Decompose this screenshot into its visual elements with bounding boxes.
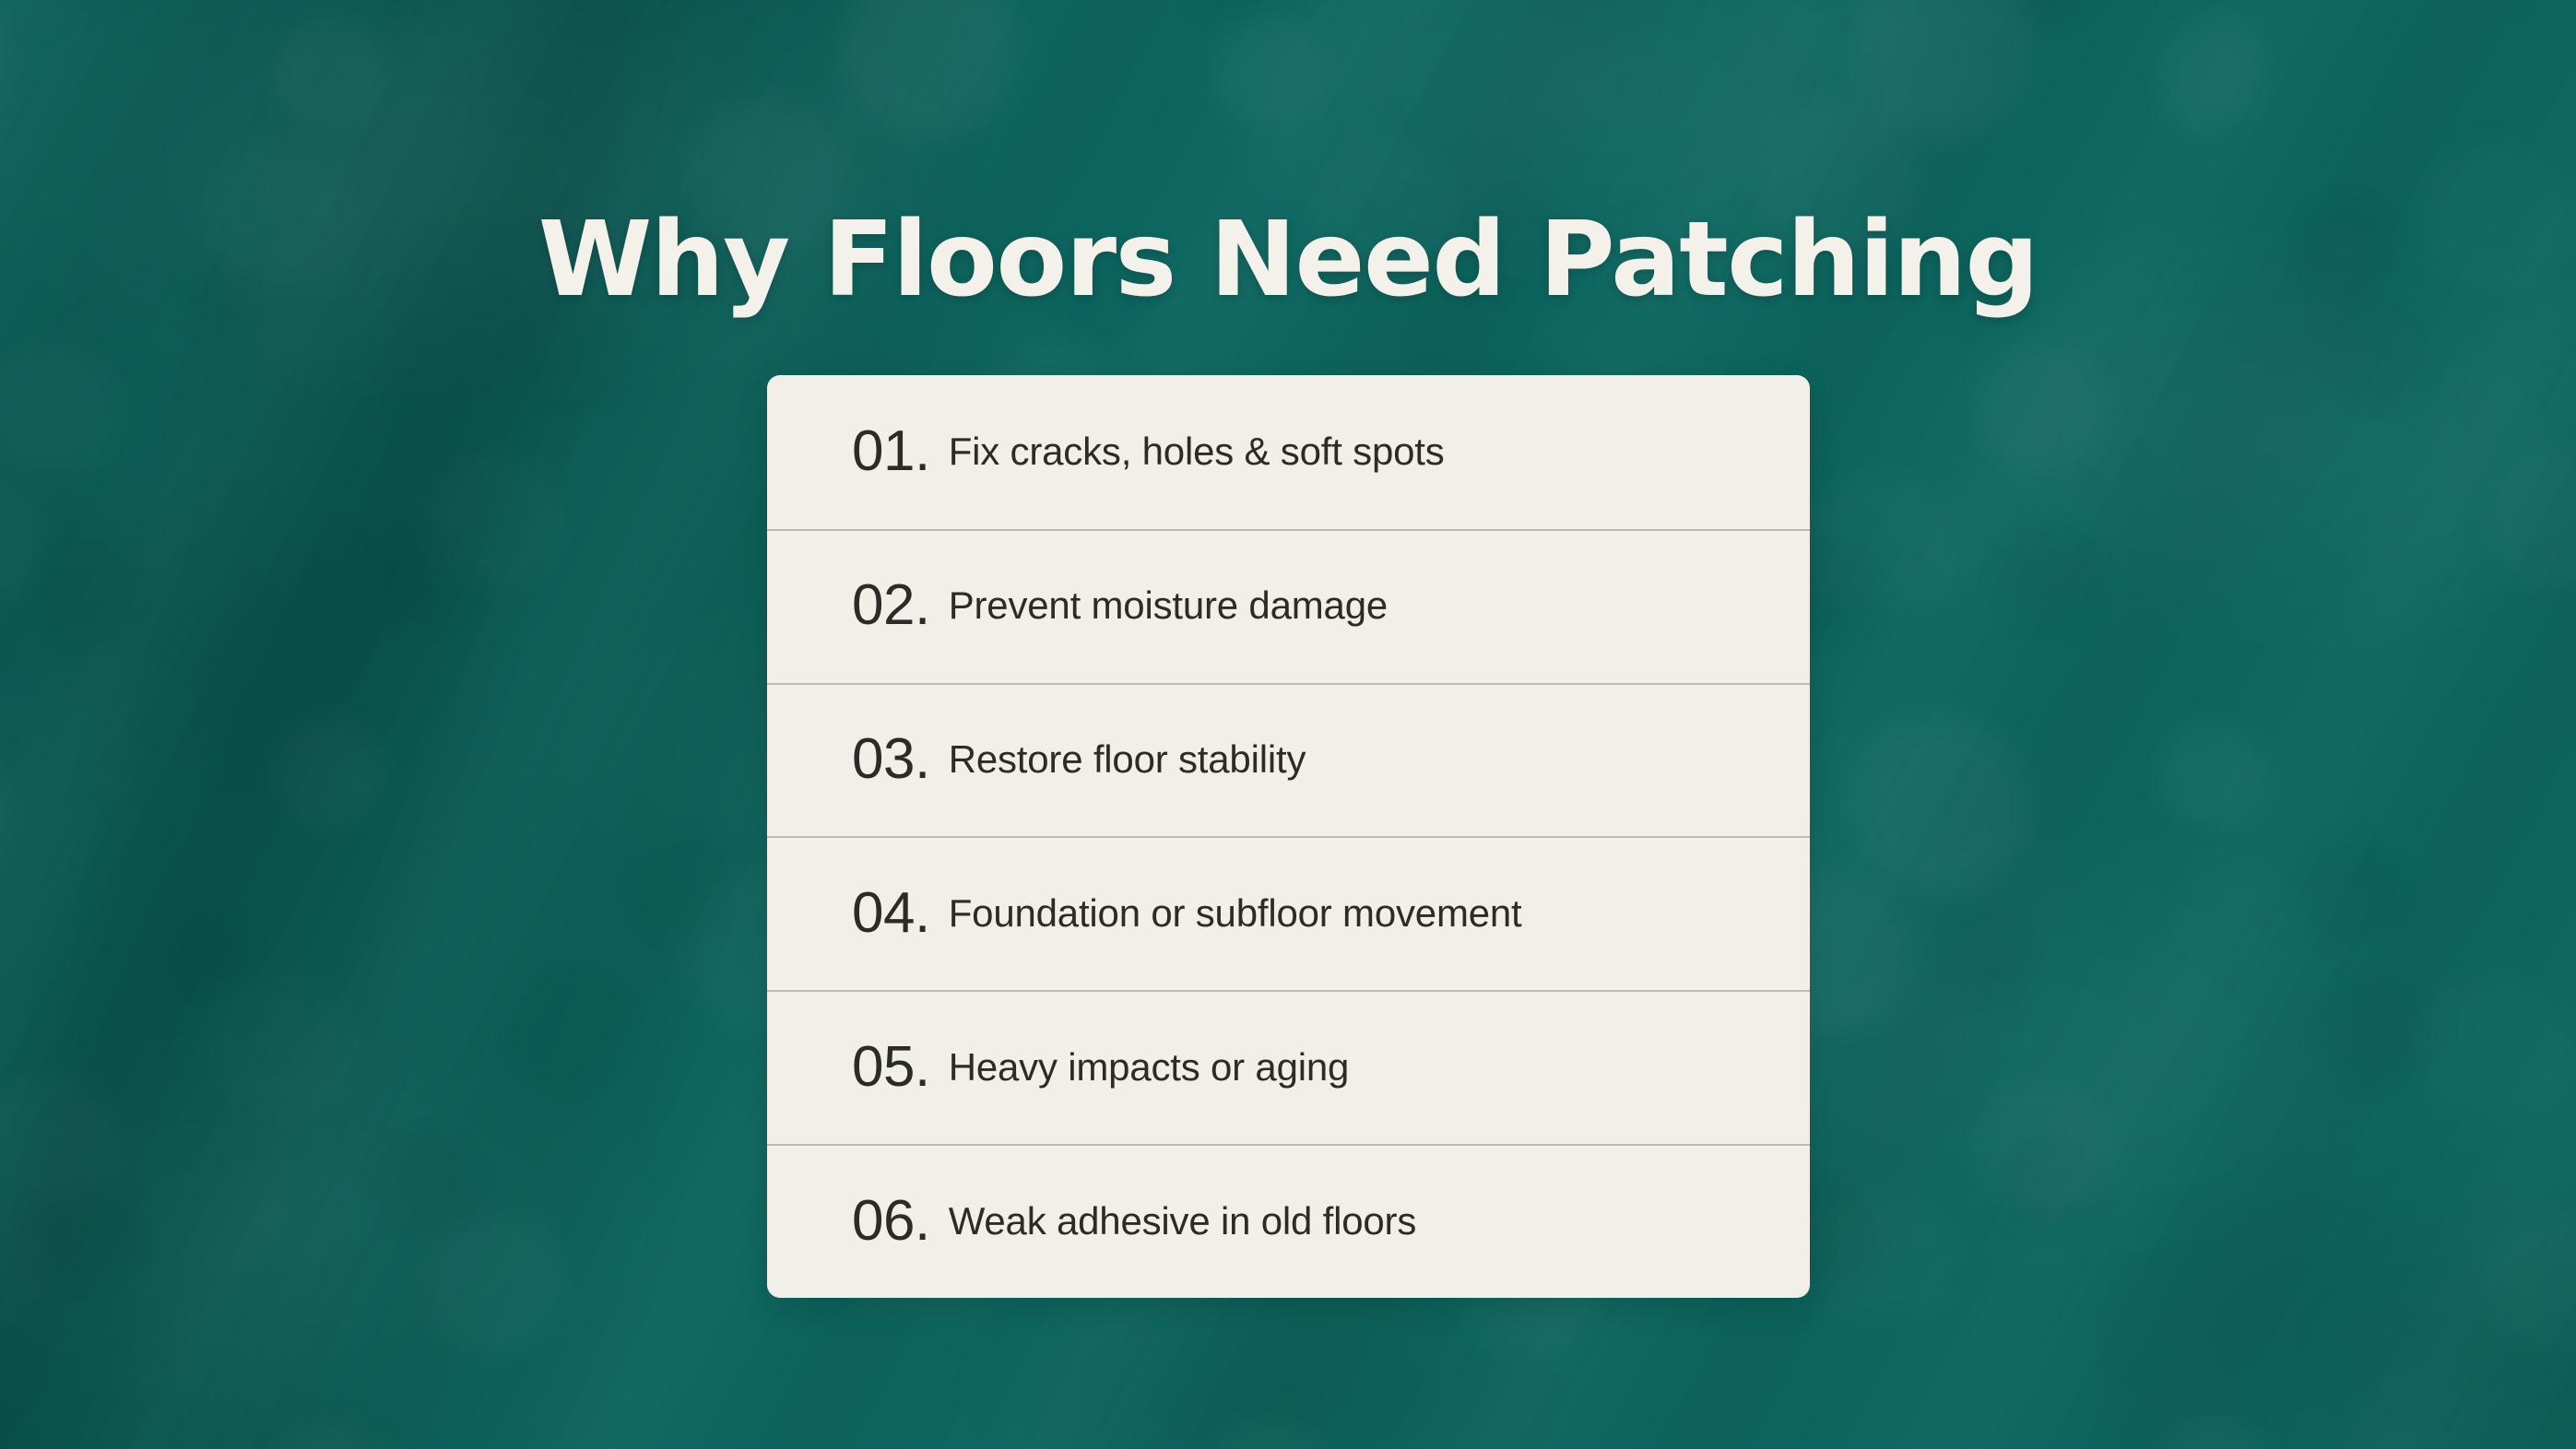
list-item[interactable]: 02. Prevent moisture damage xyxy=(767,529,1810,683)
list-item-number: 02. xyxy=(852,577,930,634)
list-item-label: Restore floor stability xyxy=(949,740,1306,779)
list-item-number: 01. xyxy=(852,423,930,480)
list-item-number: 05. xyxy=(852,1039,930,1096)
list-item-number: 04. xyxy=(852,885,930,942)
reasons-list-card: 01. Fix cracks, holes & soft spots 02. P… xyxy=(767,375,1810,1298)
slide-canvas: Why Floors Need Patching 01. Fix cracks,… xyxy=(0,0,2576,1449)
list-item-label: Weak adhesive in old floors xyxy=(949,1202,1416,1241)
list-item-number: 03. xyxy=(852,731,930,788)
list-item[interactable]: 05. Heavy impacts or aging xyxy=(767,990,1810,1144)
list-item-label: Foundation or subfloor movement xyxy=(949,894,1522,933)
list-item[interactable]: 01. Fix cracks, holes & soft spots xyxy=(767,375,1810,529)
list-item[interactable]: 04. Foundation or subfloor movement xyxy=(767,836,1810,990)
list-item-number: 06. xyxy=(852,1193,930,1250)
list-item[interactable]: 06. Weak adhesive in old floors xyxy=(767,1144,1810,1298)
list-item-label: Heavy impacts or aging xyxy=(949,1048,1349,1087)
list-item-label: Prevent moisture damage xyxy=(949,586,1388,625)
page-title: Why Floors Need Patching xyxy=(0,206,2576,315)
list-item[interactable]: 03. Restore floor stability xyxy=(767,683,1810,837)
list-item-label: Fix cracks, holes & soft spots xyxy=(949,432,1445,471)
